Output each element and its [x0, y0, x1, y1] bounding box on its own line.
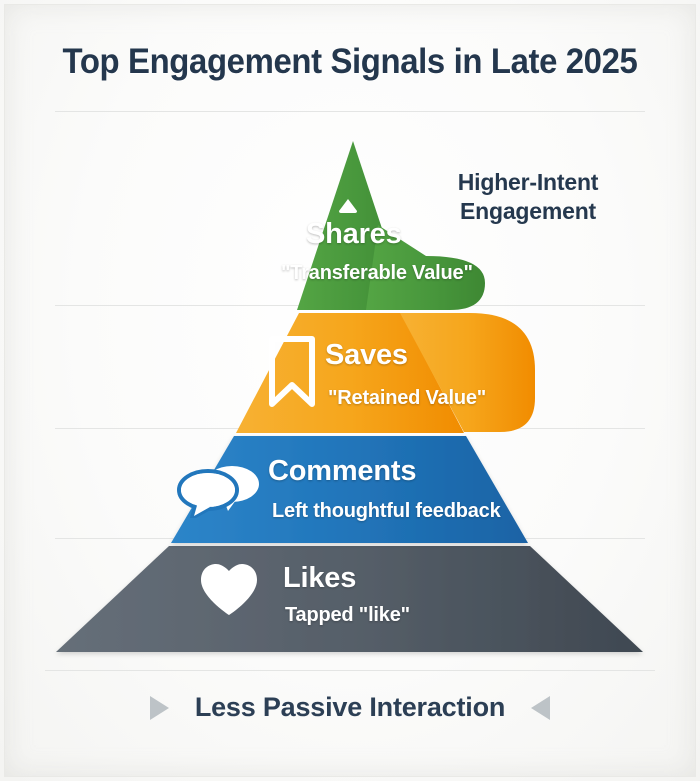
pyramid-tier-likes[interactable] — [56, 546, 643, 652]
infographic-canvas: Top Engagement Signals in Late 2025 — [0, 0, 700, 781]
pyramid-tier-comments[interactable] — [171, 436, 528, 543]
tier-shares-callout-bulge — [366, 225, 485, 310]
engagement-pyramid — [0, 0, 700, 700]
footer-caption: Less Passive Interaction — [0, 692, 700, 723]
triangle-right-icon — [150, 696, 169, 720]
tier-comments-shape[interactable] — [171, 436, 528, 543]
pyramid-tier-saves[interactable] — [236, 313, 535, 433]
callout-line-2: Engagement — [438, 197, 618, 226]
higher-intent-callout: Higher-Intent Engagement — [438, 168, 618, 227]
footer-label: Less Passive Interaction — [195, 692, 505, 723]
callout-line-1: Higher-Intent — [438, 168, 618, 197]
triangle-left-icon — [531, 696, 550, 720]
tier-likes-shape[interactable] — [56, 546, 643, 652]
